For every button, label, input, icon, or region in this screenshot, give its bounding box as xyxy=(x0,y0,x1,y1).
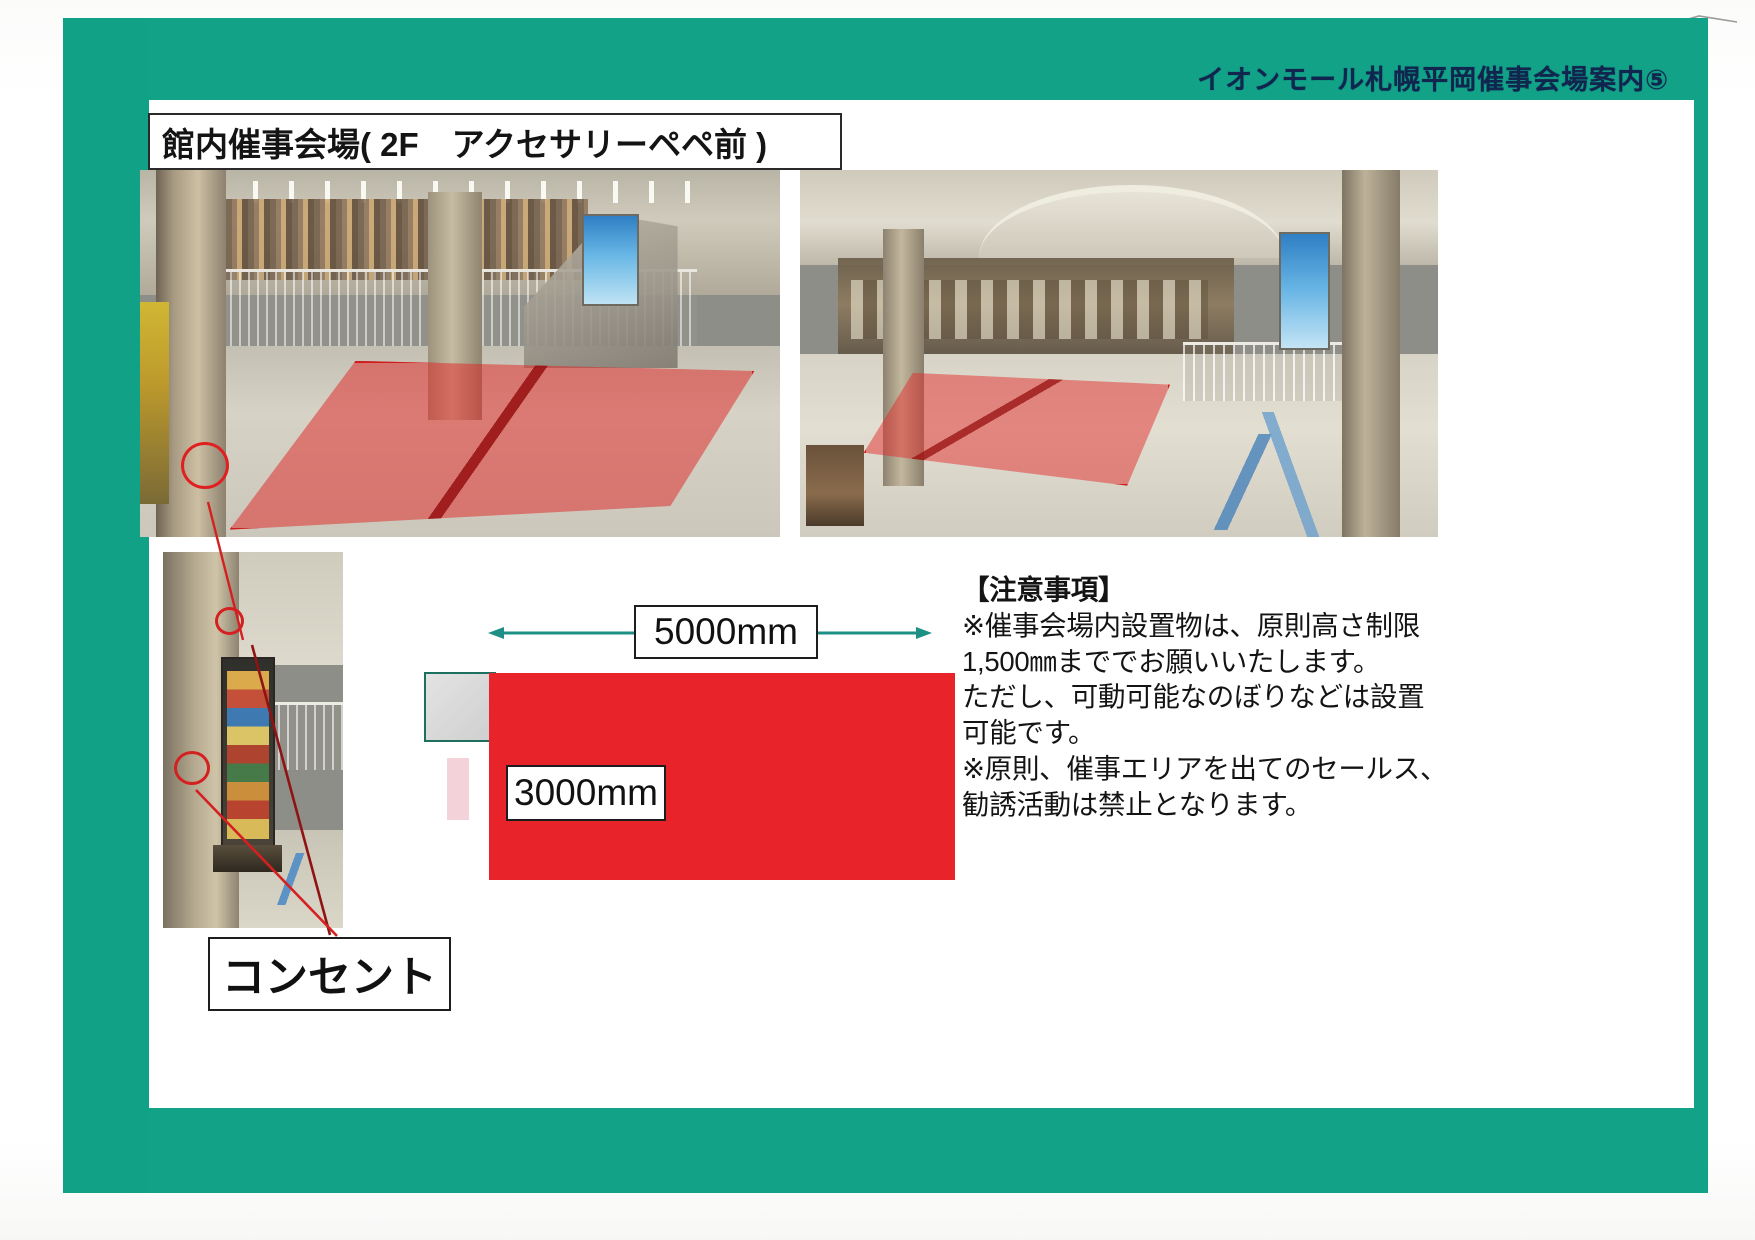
stage-gray-block xyxy=(424,672,496,742)
notes-line-6: 勧誘活動は禁止となります。 xyxy=(962,787,1462,823)
notes-line-2: 1,500㎜まででお願いいたします。 xyxy=(962,644,1462,680)
depth-dimension-label: 3000mm xyxy=(506,765,666,821)
outlet-marker-circle-lower xyxy=(174,751,210,785)
notes-line-4: 可能です。 xyxy=(962,715,1462,751)
page-title: 館内催事会場( 2F アクセサリーペペ前 ) xyxy=(162,118,767,166)
page-root: イオンモール札幌平岡催事会場案内⑤ 館内催事会場( 2F アクセサリーペペ前 ) xyxy=(0,0,1755,1240)
notes-line-5: ※原則、催事エリアを出てのセールス、 xyxy=(962,751,1462,787)
header-label: イオンモール札幌平岡催事会場案内⑤ xyxy=(1197,58,1669,97)
depth-dimension-value: 3000mm xyxy=(514,772,658,814)
notes-line-1: ※催事会場内設置物は、原則高さ制限 xyxy=(962,608,1462,644)
outlet-marker-circle xyxy=(181,442,229,490)
width-dimension-label: 5000mm xyxy=(634,605,818,659)
notes-block: 【注意事項】 ※催事会場内設置物は、原則高さ制限 1,500㎜まででお願いいたし… xyxy=(962,572,1462,822)
notes-line-3: ただし、可動可能なのぼりなどは設置 xyxy=(962,679,1462,715)
teal-left-bar xyxy=(63,18,149,1193)
page-title-box: 館内催事会場( 2F アクセサリーペペ前 ) xyxy=(148,113,842,170)
outlet-marker-circle-upper xyxy=(215,607,244,635)
width-dimension-value: 5000mm xyxy=(654,611,798,653)
pink-marker-strip xyxy=(447,758,469,820)
notes-heading: 【注意事項】 xyxy=(962,572,1462,608)
outlet-callout-box: コンセント xyxy=(208,937,451,1011)
venue-photo-secondary xyxy=(800,170,1438,537)
photo3-background xyxy=(163,552,343,928)
outlet-callout-label: コンセント xyxy=(222,943,437,1005)
outlet-location-photo xyxy=(163,552,343,928)
venue-photo-main xyxy=(140,170,780,537)
